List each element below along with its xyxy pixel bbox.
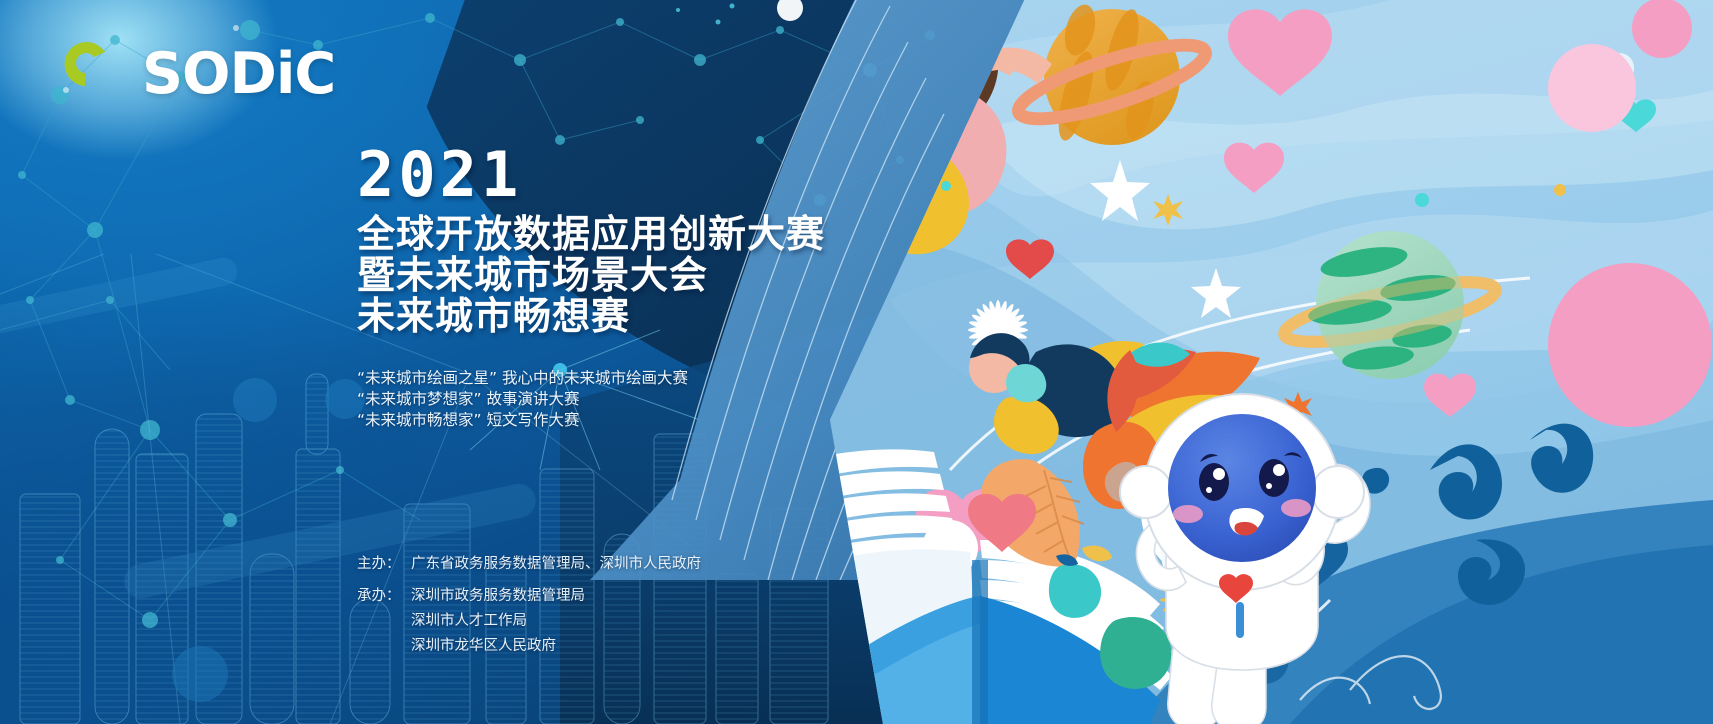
- subtitle-block: “未来城市绘画之星” 我心中的未来城市绘画大赛 “未来城市梦想家” 故事演讲大赛…: [357, 368, 688, 431]
- brand-logo[interactable]: SODiC: [58, 38, 288, 110]
- organizer-value-1: 深圳市政务服务数据管理局: [411, 584, 585, 609]
- organizers-block: 主办： 广东省政务服务数据管理局、深圳市人民政府 承办： 深圳市政务服务数据管理…: [357, 552, 701, 659]
- host-row: 主办： 广东省政务服务数据管理局、深圳市人民政府: [357, 552, 701, 577]
- title-line-3: 未来城市畅想赛: [357, 296, 877, 337]
- title-year: 2021: [357, 144, 877, 206]
- pink-blob: [1548, 263, 1712, 427]
- organizer-indent-1: [357, 609, 411, 634]
- title-block: 2021 全球开放数据应用创新大赛 暨未来城市场景大会 未来城市畅想赛: [357, 144, 877, 337]
- title-line-2: 暨未来城市场景大会: [357, 255, 877, 296]
- subtitle-line-1: “未来城市绘画之星” 我心中的未来城市绘画大赛: [357, 368, 688, 389]
- subtitle-line-3: “未来城市畅想家” 短文写作大赛: [357, 410, 688, 431]
- organizer-row-3: 深圳市龙华区人民政府: [357, 634, 701, 659]
- organizer-row-2: 深圳市人才工作局: [357, 609, 701, 634]
- logo-wordmark: SODiC: [142, 38, 335, 110]
- title-line-1: 全球开放数据应用创新大赛: [357, 214, 877, 255]
- host-label: 主办：: [357, 552, 411, 577]
- organizer-indent-2: [357, 634, 411, 659]
- organizer-value-2: 深圳市人才工作局: [411, 609, 527, 634]
- pink-circle-top: [1548, 44, 1636, 132]
- subtitle-line-2: “未来城市梦想家” 故事演讲大赛: [357, 389, 688, 410]
- poster-banner: SODiC 2021 全球开放数据应用创新大赛 暨未来城市场景大会 未来城市畅想…: [0, 0, 1713, 724]
- organizer-row-1: 承办： 深圳市政务服务数据管理局: [357, 584, 701, 609]
- organizer-value-3: 深圳市龙华区人民政府: [411, 634, 556, 659]
- organizer-label: 承办：: [357, 584, 411, 609]
- pink-circle-top2: [1632, 0, 1692, 58]
- spacer: [357, 577, 701, 584]
- host-value: 广东省政务服务数据管理局、深圳市人民政府: [411, 552, 701, 577]
